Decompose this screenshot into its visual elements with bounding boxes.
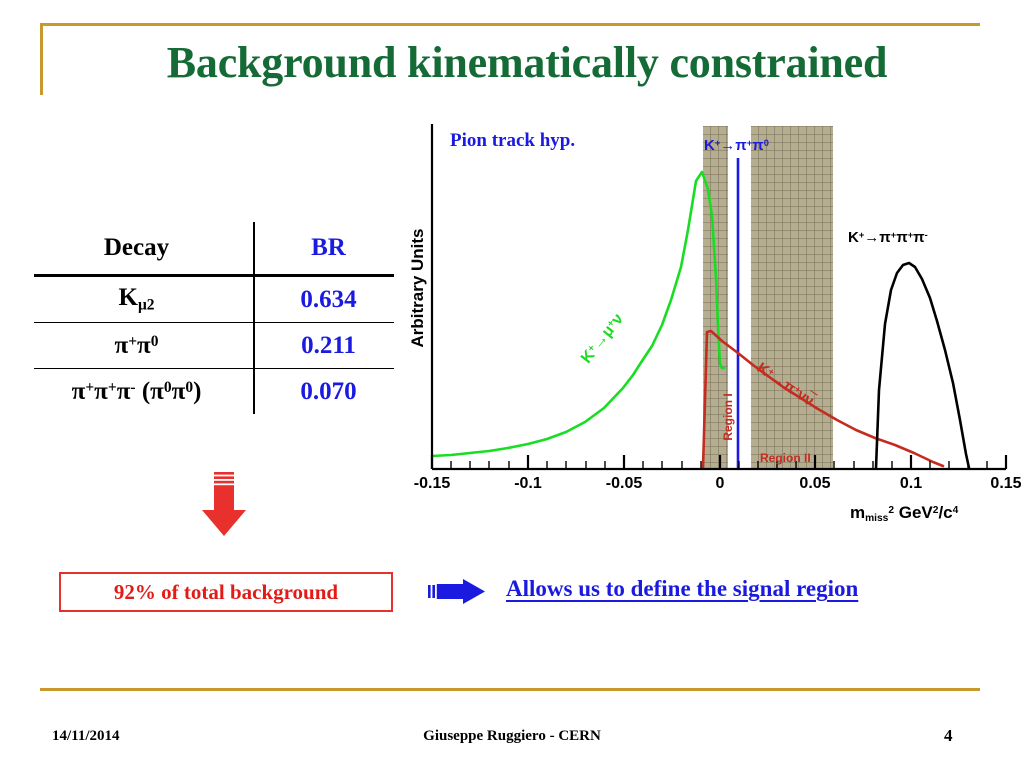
3pi-curve xyxy=(876,263,969,468)
plot-canvas xyxy=(398,118,1016,530)
series-label-kpipi0: K+→π+π0 xyxy=(704,137,769,154)
plot-title-pion-hypothesis: Pion track hyp. xyxy=(450,130,575,152)
column-header-decay: Decay xyxy=(34,222,254,276)
decay-cell-3pi: π+π+π- (π0π0) xyxy=(34,369,254,415)
kmu2-curve xyxy=(432,172,724,456)
header-accent-rule xyxy=(40,23,980,26)
x-tick-label: 0.1 xyxy=(881,475,941,493)
br-cell-kmu2: 0.634 xyxy=(254,276,394,323)
missing-mass-plot: Arbitrary Units Pion track hyp. K+→π+π0 … xyxy=(398,118,1016,530)
page-title: Background kinematically constrained xyxy=(62,36,992,90)
table-row: Kμ2 0.634 xyxy=(34,276,394,323)
x-tick-label: -0.1 xyxy=(498,475,558,493)
x-tick-label: -0.05 xyxy=(594,475,654,493)
region-2-label: Region II xyxy=(760,451,811,465)
red-down-arrow-icon xyxy=(196,472,252,538)
footer-author: Giuseppe Ruggiero - CERN xyxy=(0,728,1024,745)
footer-page-number: 4 xyxy=(944,726,953,746)
total-background-callout: 92% of total background xyxy=(59,572,393,612)
x-tick-label: 0.15 xyxy=(976,475,1024,493)
table-row: π+π0 0.211 xyxy=(34,323,394,369)
x-tick-label: 0 xyxy=(690,475,750,493)
conclusion-link[interactable]: Allows us to define the signal region xyxy=(506,576,858,602)
blue-right-arrow-icon xyxy=(428,578,488,605)
x-axis-label: mmiss2 GeV2/c4 xyxy=(850,503,958,524)
region-2-band xyxy=(751,126,833,468)
header-accent-bar xyxy=(40,23,43,95)
decay-cell-pipi0: π+π0 xyxy=(34,323,254,369)
footer-accent-rule xyxy=(40,688,980,691)
table-header-row: Decay BR xyxy=(34,222,394,276)
decay-branching-ratio-table: Decay BR Kμ2 0.634 π+π0 0.211 π+π+π- (π0… xyxy=(34,222,394,414)
column-header-br: BR xyxy=(254,222,394,276)
total-background-label: 92% of total background xyxy=(114,580,338,605)
x-tick-label: 0.05 xyxy=(785,475,845,493)
region-1-label: Region I xyxy=(721,374,735,460)
table-row: π+π+π- (π0π0) 0.070 xyxy=(34,369,394,415)
br-cell-pipi0: 0.211 xyxy=(254,323,394,369)
br-cell-3pi: 0.070 xyxy=(254,369,394,415)
decay-cell-kmu2: Kμ2 xyxy=(34,276,254,323)
series-label-3pi: K+→π+π+π- xyxy=(848,229,928,246)
y-axis-label: Arbitrary Units xyxy=(408,148,428,428)
x-tick-label: -0.15 xyxy=(402,475,462,493)
